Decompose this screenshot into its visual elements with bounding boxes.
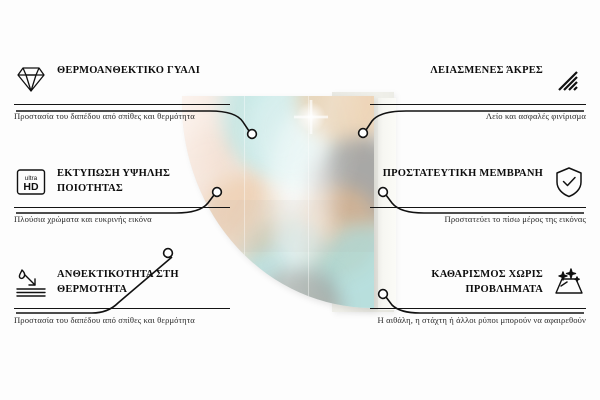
feature-header: ΠΡΟΣΤΑΤΕΥΤΙΚΗ ΜΕΜΒΡΑΝΗ <box>370 165 586 205</box>
feature-title: ΚΑΘΑΡΙΣΜΟΣ ΧΩΡΙΣ ΠΡΟΒΛΗΜΑΤΑ <box>370 266 543 297</box>
feature-title: ΘΕΡΜΟΑΝΘΕΚΤΙΚΟ ΓΥΑΛΙ <box>57 62 200 78</box>
feature-description: Προστασία του δαπέδου από σπίθες και θερ… <box>14 314 230 326</box>
feature-easy-cleaning: ΚΑΘΑΡΙΣΜΟΣ ΧΩΡΙΣ ΠΡΟΒΛΗΜΑΤΑ Η αιθάλη, η … <box>370 266 586 326</box>
feature-description: Προστασία του δαπέδου από σπίθες και θερ… <box>14 110 230 122</box>
divider <box>370 308 586 309</box>
svg-text:HD: HD <box>23 181 39 193</box>
feature-description: Προστατεύει το πίσω μέρος της εικόνας <box>370 213 586 225</box>
diamond-icon <box>14 62 48 96</box>
feature-polished-edges: ΛΕΙΑΣΜΕΝΕΣ ΆΚΡΕΣ Λείο και ασφαλές φινίρι… <box>370 62 586 122</box>
connector-node <box>164 249 173 258</box>
feature-header: ΑΝΘΕΚΤΙΚΟΤΗΤΑ ΣΤΗ ΘΕΡΜΟΤΗΤΑ <box>14 266 230 306</box>
feature-title: ΛΕΙΑΣΜΕΝΕΣ ΆΚΡΕΣ <box>430 62 543 78</box>
feature-protective-film: ΠΡΟΣΤΑΤΕΥΤΙΚΗ ΜΕΜΒΡΑΝΗ Προστατεύει το πί… <box>370 165 586 225</box>
feature-header: ultra HD ΕΚΤΥΠΩΣΗ ΥΨΗΛΗΣ ΠΟΙΟΤΗΤΑΣ <box>14 165 230 205</box>
divider <box>370 207 586 208</box>
feature-thermo-glass: ΘΕΡΜΟΑΝΘΕΚΤΙΚΟ ΓΥΑΛΙ Προστασία του δαπέδ… <box>14 62 230 122</box>
feature-heat-resistance: ΑΝΘΕΚΤΙΚΟΤΗΤΑ ΣΤΗ ΘΕΡΜΟΤΗΤΑ Προστασία το… <box>14 266 230 326</box>
panel-seam <box>244 96 245 308</box>
panel-seam <box>308 96 309 308</box>
shield-check-icon <box>552 165 586 199</box>
feature-header: ΘΕΡΜΟΑΝΘΕΚΤΙΚΟ ΓΥΑΛΙ <box>14 62 230 102</box>
feature-header: ΚΑΘΑΡΙΣΜΟΣ ΧΩΡΙΣ ΠΡΟΒΛΗΜΑΤΑ <box>370 266 586 306</box>
ultra-hd-icon: ultra HD <box>14 165 48 199</box>
feature-title: ΠΡΟΣΤΑΤΕΥΤΙΚΗ ΜΕΜΒΡΑΝΗ <box>383 165 543 181</box>
feature-header: ΛΕΙΑΣΜΕΝΕΣ ΆΚΡΕΣ <box>370 62 586 102</box>
heat-deflect-icon <box>14 266 48 300</box>
feature-title: ΑΝΘΕΚΤΙΚΟΤΗΤΑ ΣΤΗ ΘΕΡΜΟΤΗΤΑ <box>57 266 230 297</box>
feature-description: Πλούσια χρώματα και ευκρινής εικόνα <box>14 213 230 225</box>
divider <box>14 207 230 208</box>
feature-title: ΕΚΤΥΠΩΣΗ ΥΨΗΛΗΣ ΠΟΙΟΤΗΤΑΣ <box>57 165 230 196</box>
feature-description: Λείο και ασφαλές φινίρισμα <box>370 110 586 122</box>
polished-edge-icon <box>552 62 586 96</box>
divider <box>14 308 230 309</box>
infographic-canvas: ΘΕΡΜΟΑΝΘΕΚΤΙΚΟ ΓΥΑΛΙ Προστασία του δαπέδ… <box>0 0 600 400</box>
feature-description: Η αιθάλη, η στάχτη ή άλλοι ρύποι μπορούν… <box>370 314 586 326</box>
divider <box>370 104 586 105</box>
feature-hq-print: ultra HD ΕΚΤΥΠΩΣΗ ΥΨΗΛΗΣ ΠΟΙΟΤΗΤΑΣ Πλούσ… <box>14 165 230 225</box>
sparkle-clean-icon <box>552 266 586 300</box>
divider <box>14 104 230 105</box>
